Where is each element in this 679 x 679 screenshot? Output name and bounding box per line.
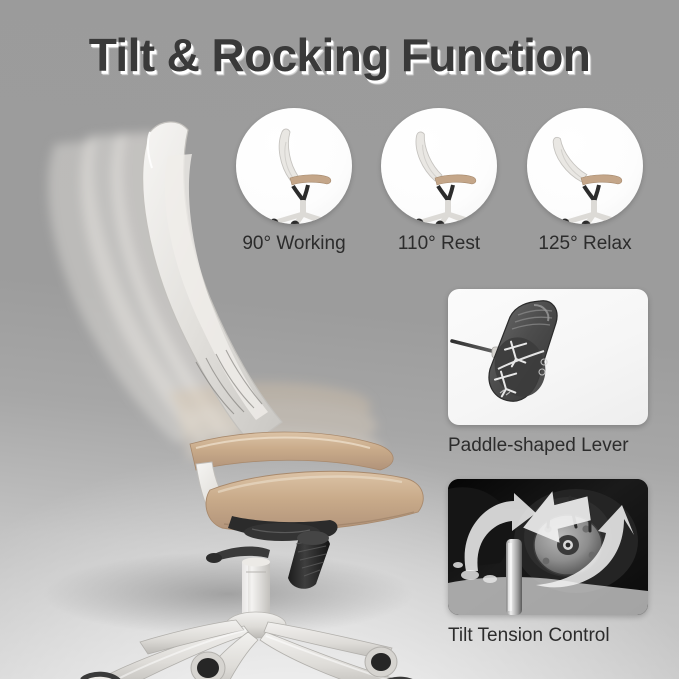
badge-label: 125° Relax (527, 233, 643, 255)
office-chair-icon (381, 108, 497, 224)
panel-image (448, 289, 648, 425)
panel-label: Paddle-shaped Lever (448, 435, 648, 457)
badge-circle (236, 108, 352, 224)
panel-image (448, 479, 648, 615)
infographic-canvas: Tilt & Rocking Function (0, 0, 679, 679)
office-chair-icon (527, 108, 643, 224)
panel-lever[interactable]: Paddle-shaped Lever (448, 289, 648, 457)
badge-label: 90° Working (236, 233, 352, 255)
badge-label: 110° Rest (381, 233, 497, 255)
angle-badges: 90° Working (236, 108, 656, 258)
badge-110[interactable]: 110° Rest (381, 108, 497, 255)
badge-125[interactable]: 125° Relax (527, 108, 643, 255)
badge-circle (527, 108, 643, 224)
badge-circle (381, 108, 497, 224)
panel-label: Tilt Tension Control (448, 625, 648, 647)
page-title: Tilt & Rocking Function (0, 28, 679, 82)
paddle-lever-icon (448, 289, 648, 425)
office-chair-icon (236, 108, 352, 224)
tension-knob-icon (448, 479, 648, 615)
panel-tension[interactable]: Tilt Tension Control (448, 479, 648, 647)
badge-90[interactable]: 90° Working (236, 108, 352, 255)
